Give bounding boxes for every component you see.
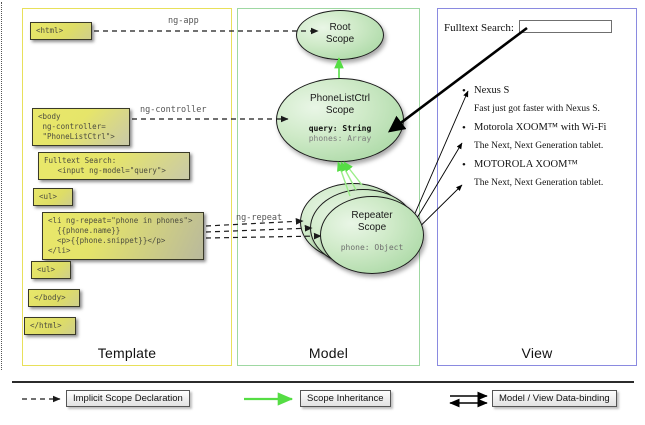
- scope-repeater: Repeater Scope phone: Object: [320, 196, 424, 274]
- label-ng-controller: ng-controller: [140, 105, 207, 115]
- scope-ctrl-field-query: query: String: [277, 124, 403, 134]
- scope-root-line1: Root: [297, 22, 383, 34]
- legend: Implicit Scope Declaration Scope Inherit…: [0, 388, 645, 418]
- panel-title-view: View: [438, 345, 636, 361]
- view-search-input[interactable]: [519, 20, 612, 33]
- panel-title-template: Template: [23, 345, 231, 361]
- code-box-html-close: </html>: [24, 317, 76, 335]
- scope-ctrl-line2: Scope: [277, 105, 403, 117]
- code-box-li-ngrepeat: <li ng-repeat="phone in phones"> {{phone…: [42, 212, 204, 260]
- scope-repeater-line2: Scope: [321, 222, 423, 234]
- code-box-search-input: Fulltext Search: <input ng-model="query"…: [38, 152, 190, 180]
- code-box-body-open: <body ng-controller= "PhoneListCtrl">: [32, 108, 130, 146]
- code-box-ul-open: <ul>: [33, 188, 73, 206]
- list-item: Nexus S Fast just got faster with Nexus …: [462, 84, 632, 116]
- label-ng-app: ng-app: [168, 16, 199, 26]
- label-ng-repeat: ng-repeat: [236, 213, 282, 223]
- code-box-ul-close: <ul>: [31, 261, 71, 279]
- scope-repeater-field-phone: phone: Object: [321, 243, 423, 253]
- legend-label-inheritance: Scope Inheritance: [300, 390, 391, 407]
- view-search-label: Fulltext Search:: [444, 22, 514, 34]
- phone-name: Motorola XOOM™ with Wi-Fi: [462, 121, 632, 135]
- legend-label-implicit: Implicit Scope Declaration: [66, 390, 190, 407]
- scope-ctrl-field-phones: phones: Array: [277, 134, 403, 144]
- code-box-body-close: </body>: [28, 289, 80, 307]
- scope-repeater-line1: Repeater: [321, 210, 423, 222]
- panel-template: Template: [22, 8, 232, 366]
- scope-root-line2: Scope: [297, 34, 383, 46]
- list-item: Motorola XOOM™ with Wi-Fi The Next, Next…: [462, 121, 632, 153]
- legend-divider: [12, 381, 634, 383]
- phone-name: Nexus S: [462, 84, 632, 98]
- phone-snippet: Fast just got faster with Nexus S.: [462, 102, 632, 116]
- scope-root: Root Scope: [296, 10, 384, 60]
- phone-name: MOTOROLA XOOM™: [462, 158, 632, 172]
- legend-label-databinding: Model / View Data-binding: [492, 390, 617, 407]
- panel-title-model: Model: [238, 345, 419, 361]
- list-item: MOTOROLA XOOM™ The Next, Next Generation…: [462, 158, 632, 190]
- code-box-html-open: <html>: [30, 22, 92, 40]
- scope-phonelistctrl: PhoneListCtrl Scope query: String phones…: [276, 78, 404, 162]
- scope-ctrl-line1: PhoneListCtrl: [277, 93, 403, 105]
- diagram-root: Template Model View <html> <body ng-cont…: [0, 0, 645, 425]
- phone-snippet: The Next, Next Generation tablet.: [462, 139, 632, 153]
- phone-snippet: The Next, Next Generation tablet.: [462, 176, 632, 190]
- view-phone-list: Nexus S Fast just got faster with Nexus …: [462, 84, 632, 195]
- page-left-edge: [1, 2, 4, 370]
